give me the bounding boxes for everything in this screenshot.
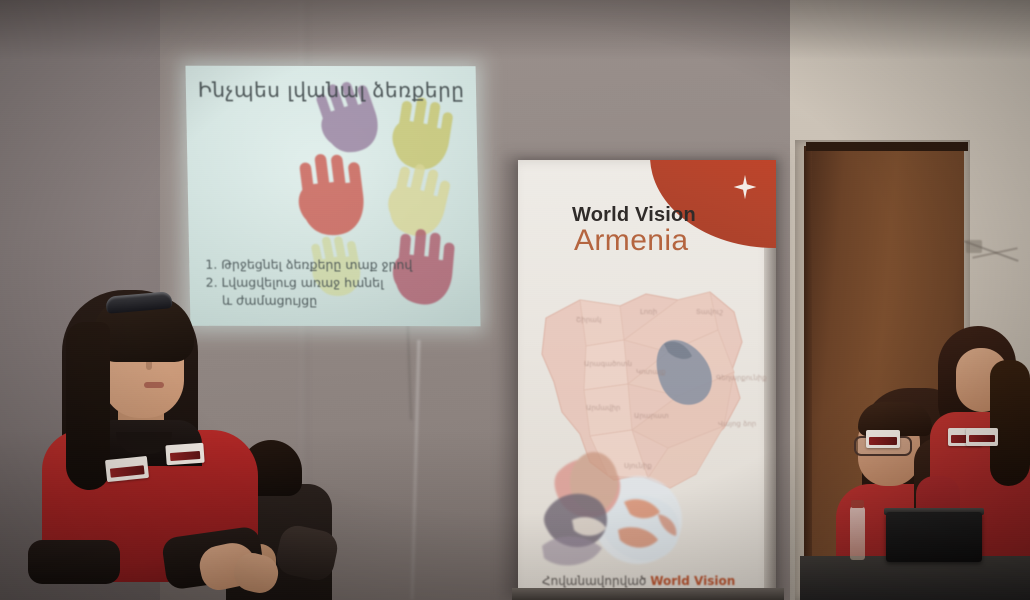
banner-tagline-prefix: Հովանավորված [542,574,646,588]
svg-text:Վայոց ձոր: Վայոց ձոր [718,420,756,428]
banner-tagline: Հովանավորված World Vision [542,574,735,588]
svg-text:Արմավիր: Արմավիր [586,404,620,412]
slide-bullet-1: 1. Թրջեցնել ձեռքերը տաք ջրով [205,255,465,274]
child-with-globe-photo [528,428,708,578]
name-badge [866,430,900,448]
svg-text:Արարատ: Արարատ [634,412,669,420]
svg-text:Շիրակ: Շիրակ [576,316,601,324]
standing-woman-hair-side [990,360,1030,486]
presenter-hair-side [66,322,110,490]
water-bottle[interactable] [850,506,865,560]
svg-text:Գեղարքունիք: Գեղարքունիք [716,374,767,382]
door-top-shadow [806,142,968,151]
name-badge [966,428,998,446]
presenter [18,282,286,600]
laptop[interactable] [886,512,982,562]
brand-name-armenia: Armenia [574,224,689,258]
slide-title: Ինչպես լվանալ ձեռքերը [198,78,465,102]
desk [800,556,1030,600]
banner-tagline-highlight: World Vision [650,574,735,588]
presenter-left-sleeve [28,540,120,584]
water-bottle-cap [851,500,864,508]
svg-text:Լոռի: Լոռի [640,308,657,316]
ceiling-shadow [0,0,1030,60]
star-icon [732,174,758,200]
name-badge [165,443,204,466]
svg-text:Արագածոտն: Արագածոտն [584,360,632,368]
svg-text:Կոտայք: Կոտայք [636,368,666,376]
presenter-mouth [144,382,164,388]
photo-scene: Ինչպես լվանալ ձեռքերը 1. Թրջեցնել ձեռքեր… [0,0,1030,600]
banner-base [512,588,784,600]
world-vision-banner: World Vision Armenia Շիրա [518,160,776,600]
svg-text:Տավուշ: Տավուշ [696,308,724,316]
name-badge [105,456,149,482]
